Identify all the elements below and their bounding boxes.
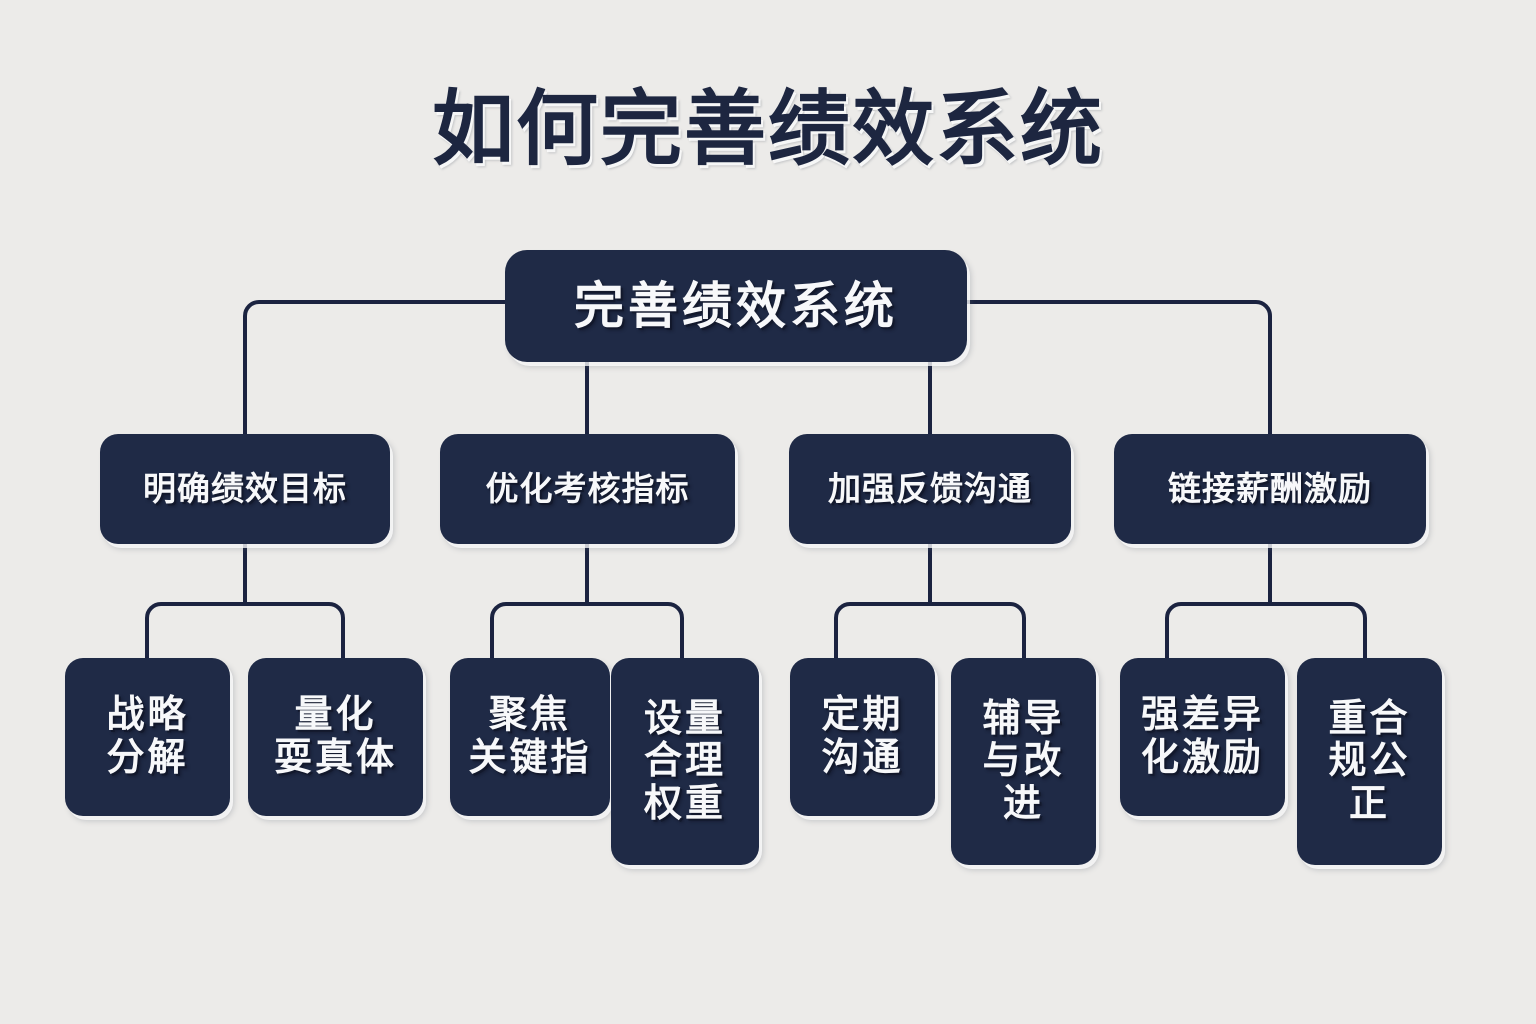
node-leaf-7-label: 强差异 化激励 [1135, 694, 1270, 779]
node-leaf-4-label: 设量 合理 权重 [638, 698, 732, 826]
node-branch-4[interactable]: 链接薪酬激励 [1114, 434, 1426, 544]
connector-branch-1-bracket [147, 604, 343, 658]
node-leaf-3-label: 聚焦 关键指 [462, 694, 597, 779]
node-branch-2-label: 优化考核指标 [480, 471, 696, 508]
node-leaf-8[interactable]: 重合 规公 正 [1297, 658, 1442, 865]
node-branch-3-label: 加强反馈沟通 [822, 471, 1038, 508]
connector-root-to-branch-4 [967, 302, 1270, 434]
node-leaf-1[interactable]: 战略 分解 [65, 658, 230, 816]
node-leaf-5[interactable]: 定期 沟通 [790, 658, 935, 816]
node-leaf-2-label: 量化 耍真体 [268, 694, 403, 779]
node-leaf-4[interactable]: 设量 合理 权重 [611, 658, 759, 865]
node-leaf-8-label: 重合 规公 正 [1322, 698, 1416, 826]
connector-root-to-branch-1 [245, 302, 505, 434]
node-leaf-5-label: 定期 沟通 [815, 694, 909, 779]
node-leaf-6-label: 辅导 与改 进 [976, 698, 1070, 826]
node-branch-3[interactable]: 加强反馈沟通 [789, 434, 1071, 544]
diagram-canvas: 如何完善绩效系统 完善绩效系统 明确绩效目标 优化考核指标 加强反馈沟通 [0, 0, 1536, 1024]
connector-branch-4-bracket [1167, 604, 1365, 658]
node-leaf-2[interactable]: 量化 耍真体 [248, 658, 423, 816]
node-root-label: 完善绩效系统 [568, 278, 904, 334]
node-leaf-3[interactable]: 聚焦 关键指 [450, 658, 610, 816]
connector-branch-3-bracket [836, 604, 1024, 658]
connector-branch-2-bracket [492, 604, 682, 658]
node-branch-4-label: 链接薪酬激励 [1162, 471, 1378, 508]
node-leaf-1-label: 战略 分解 [100, 694, 194, 779]
node-branch-1-label: 明确绩效目标 [137, 471, 353, 508]
node-leaf-7[interactable]: 强差异 化激励 [1120, 658, 1285, 816]
node-branch-1[interactable]: 明确绩效目标 [100, 434, 390, 544]
node-branch-2[interactable]: 优化考核指标 [440, 434, 735, 544]
node-root[interactable]: 完善绩效系统 [505, 250, 967, 362]
node-leaf-6[interactable]: 辅导 与改 进 [951, 658, 1096, 865]
